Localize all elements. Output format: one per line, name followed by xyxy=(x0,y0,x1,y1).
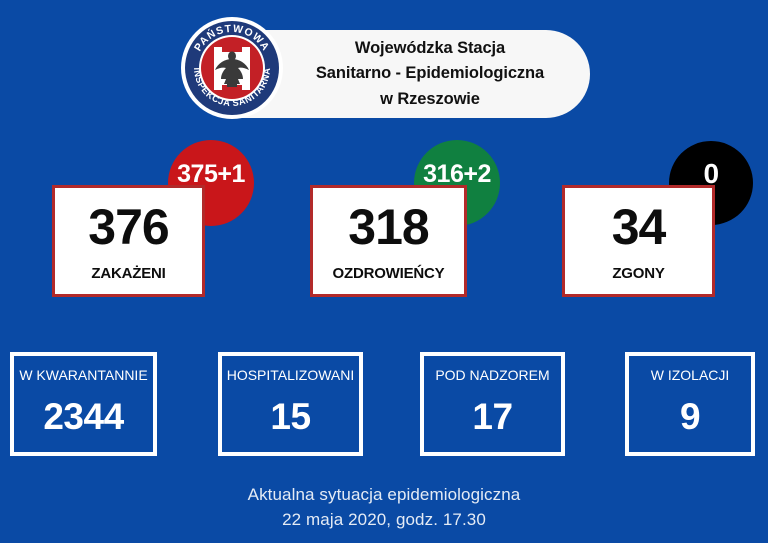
sanitary-inspection-logo: PAŃSTWOWA INSPEKCJA SANITARNA xyxy=(180,16,284,120)
page-title: Wojewódzka Stacja Sanitarno - Epidemiolo… xyxy=(270,30,590,118)
header-band: PAŃSTWOWA INSPEKCJA SANITARNA Wojewódzka… xyxy=(0,0,768,130)
title-line-2: Sanitarno - Epidemiologiczna xyxy=(316,62,544,85)
stat-value-infected: 376 xyxy=(88,202,168,252)
stat-value-hospitalized: 15 xyxy=(270,398,310,435)
stat-label-under-supervision: POD NADZOREM xyxy=(435,368,549,382)
stat-card-hospitalized: HOSPITALIZOWANI 15 xyxy=(218,352,363,456)
stat-card-under-supervision: POD NADZOREM 17 xyxy=(420,352,565,456)
stat-value-quarantine: 2344 xyxy=(43,398,123,435)
footer-line-2: 22 maja 2020, godz. 17.30 xyxy=(0,508,768,533)
stat-label-isolation: W IZOLACJI xyxy=(651,368,730,382)
footer-line-1: Aktualna sytuacja epidemiologiczna xyxy=(0,483,768,508)
stat-value-under-supervision: 17 xyxy=(472,398,512,435)
stat-label-recovered: OZDROWIEŃCY xyxy=(333,266,445,281)
stat-label-hospitalized: HOSPITALIZOWANI xyxy=(227,368,355,382)
stat-card-deaths: 34 ZGONY xyxy=(562,185,715,297)
title-line-3: w Rzeszowie xyxy=(380,88,480,111)
stat-value-deaths: 34 xyxy=(612,202,666,252)
title-line-1: Wojewódzka Stacja xyxy=(355,37,505,60)
stat-card-quarantine: W KWARANTANNIE 2344 xyxy=(10,352,157,456)
stat-value-isolation: 9 xyxy=(680,398,700,435)
stat-card-recovered: 318 OZDROWIEŃCY xyxy=(310,185,467,297)
stat-card-isolation: W IZOLACJI 9 xyxy=(625,352,755,456)
stat-label-infected: ZAKAŻENI xyxy=(91,266,165,281)
stat-value-recovered: 318 xyxy=(348,202,428,252)
stat-label-deaths: ZGONY xyxy=(612,266,664,281)
stat-card-infected: 376 ZAKAŻENI xyxy=(52,185,205,297)
stat-label-quarantine: W KWARANTANNIE xyxy=(19,368,147,382)
footer-caption: Aktualna sytuacja epidemiologiczna 22 ma… xyxy=(0,483,768,532)
